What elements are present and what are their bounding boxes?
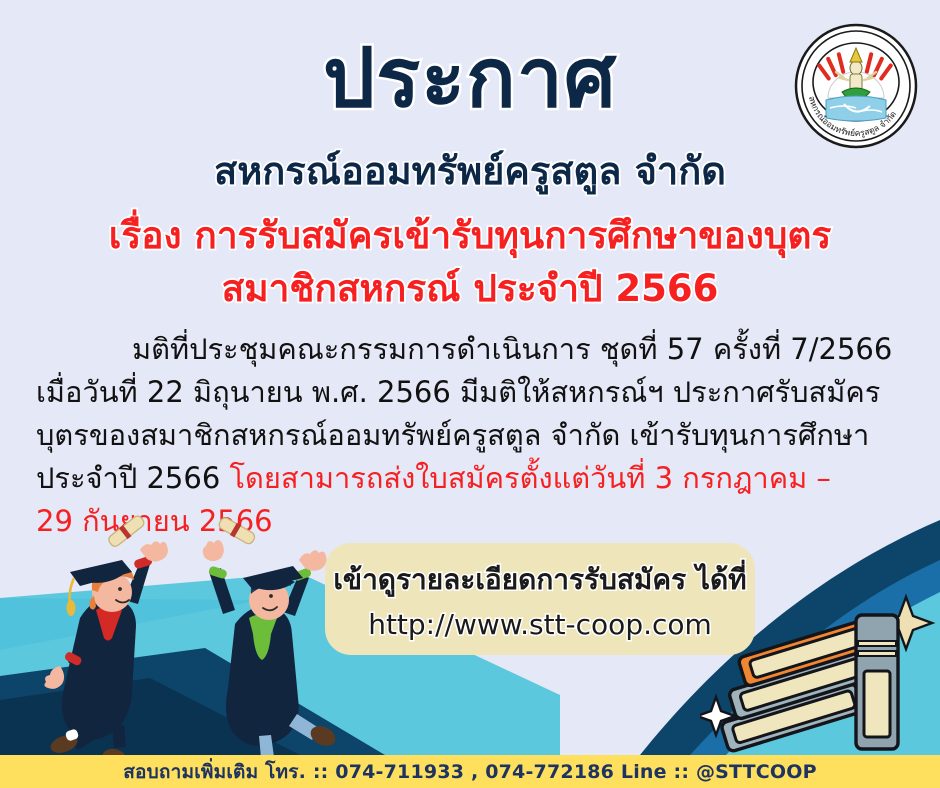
- graduate-figure-right: [203, 515, 339, 773]
- details-url-card[interactable]: เข้าดูรายละเอียดการรับสมัคร ได้ที่ http:…: [325, 543, 755, 655]
- announcement-poster: สหกรณ์ออมทรัพย์ครูสตูล จำกัด ประกาศ สหกร…: [0, 0, 940, 788]
- announcement-subject: เรื่อง การรับสมัครเข้ารับทุนการศึกษาของบ…: [0, 210, 940, 315]
- details-cta-label: เข้าดูรายละเอียดการรับสมัคร ได้ที่: [333, 558, 746, 602]
- body-line-4-red: โดยสามารถส่งใบสมัครตั้งแต่วันที่ 3 กรกฎา…: [229, 461, 830, 495]
- contact-footer-bar: สอบถามเพิ่มเติม โทร. :: 074-711933 , 074…: [0, 755, 940, 788]
- body-line-2: เมื่อวันที่ 22 มิถุนายน พ.ศ. 2566 มีมติใ…: [36, 371, 908, 414]
- body-line-4: ประจำปี 2566 โดยสามารถส่งใบสมัครตั้งแต่ว…: [36, 457, 908, 500]
- subject-line-2: สมาชิกสหกรณ์ ประจำปี 2566: [0, 263, 940, 316]
- body-line-3: บุตรของสมาชิกสหกรณ์ออมทรัพย์ครูสตูล จำกั…: [36, 414, 908, 457]
- book-standing: [856, 615, 898, 749]
- contact-footer-text: สอบถามเพิ่มเติม โทร. :: 074-711933 , 074…: [123, 757, 817, 787]
- body-line-4-black: ประจำปี 2566: [36, 461, 229, 495]
- graduate-figure-left: [44, 513, 167, 769]
- website-url-link[interactable]: http://www.stt-coop.com: [368, 608, 712, 641]
- body-line-1: มติที่ประชุมคณะกรรมการดำเนินการ ชุดที่ 5…: [36, 328, 908, 371]
- subject-line-1: เรื่อง การรับสมัครเข้ารับทุนการศึกษาของบ…: [0, 210, 940, 263]
- page-title: ประกาศ: [0, 36, 940, 122]
- organization-name: สหกรณ์ออมทรัพย์ครูสตูล จำกัด: [0, 150, 940, 194]
